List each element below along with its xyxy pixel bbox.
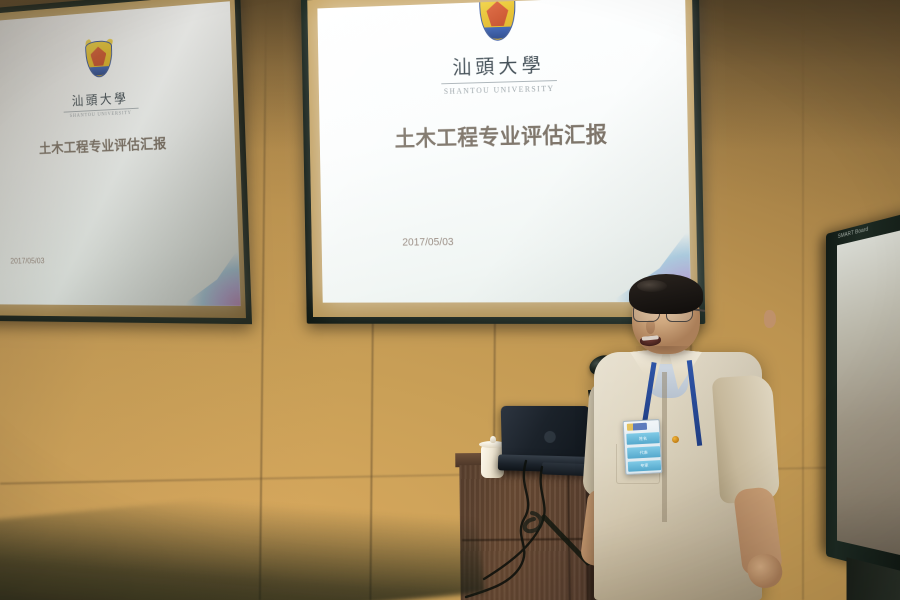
shirt-placket — [662, 372, 667, 522]
university-name-en: SHANTOU UNIVERSITY — [70, 111, 132, 119]
lapel-pin-icon — [672, 436, 679, 443]
secondary-projection-screen: 汕頭大學 SHANTOU UNIVERSITY 土木工程专业评估汇报 2017/… — [0, 0, 252, 324]
slide-title: 土木工程专业评估汇报 — [394, 117, 607, 153]
photograph-scene: 汕頭大學 SHANTOU UNIVERSITY 土木工程专业评估汇报 2017/… — [0, 0, 900, 600]
conference-badge: 姓名 代表 专家 — [623, 419, 663, 475]
slide-date: 2017/05/03 — [402, 236, 454, 248]
presenter: 姓名 代表 专家 — [588, 276, 772, 600]
whiteboard-surface[interactable] — [837, 226, 900, 559]
cup-lid-knob — [490, 436, 496, 443]
page-curl-icon — [180, 248, 241, 306]
hair — [629, 274, 703, 314]
university-name-cn: 汕頭大學 — [452, 49, 545, 80]
interactive-whiteboard[interactable]: SMART Board — [826, 208, 900, 582]
shantou-university-crest-icon — [85, 40, 113, 78]
ear — [764, 310, 776, 328]
projected-slide-main: 汕頭大學 SHANTOU UNIVERSITY 土木工程专业评估汇报 2017/… — [317, 0, 691, 303]
university-name-cn: 汕頭大學 — [72, 88, 129, 109]
shirt-sleeve-right — [712, 374, 781, 504]
slide-title: 土木工程专业评估汇报 — [39, 134, 167, 159]
shantou-university-crest-icon — [479, 0, 516, 41]
slide-date: 2017/05/03 — [10, 257, 44, 266]
chin-shadow — [636, 346, 694, 360]
wall-panel-seam — [802, 0, 804, 600]
badge-logo-icon — [627, 423, 647, 431]
projected-slide-left: 汕頭大學 SHANTOU UNIVERSITY 土木工程专业评估汇报 2017/… — [0, 1, 241, 306]
university-name-en: SHANTOU UNIVERSITY — [444, 84, 555, 96]
